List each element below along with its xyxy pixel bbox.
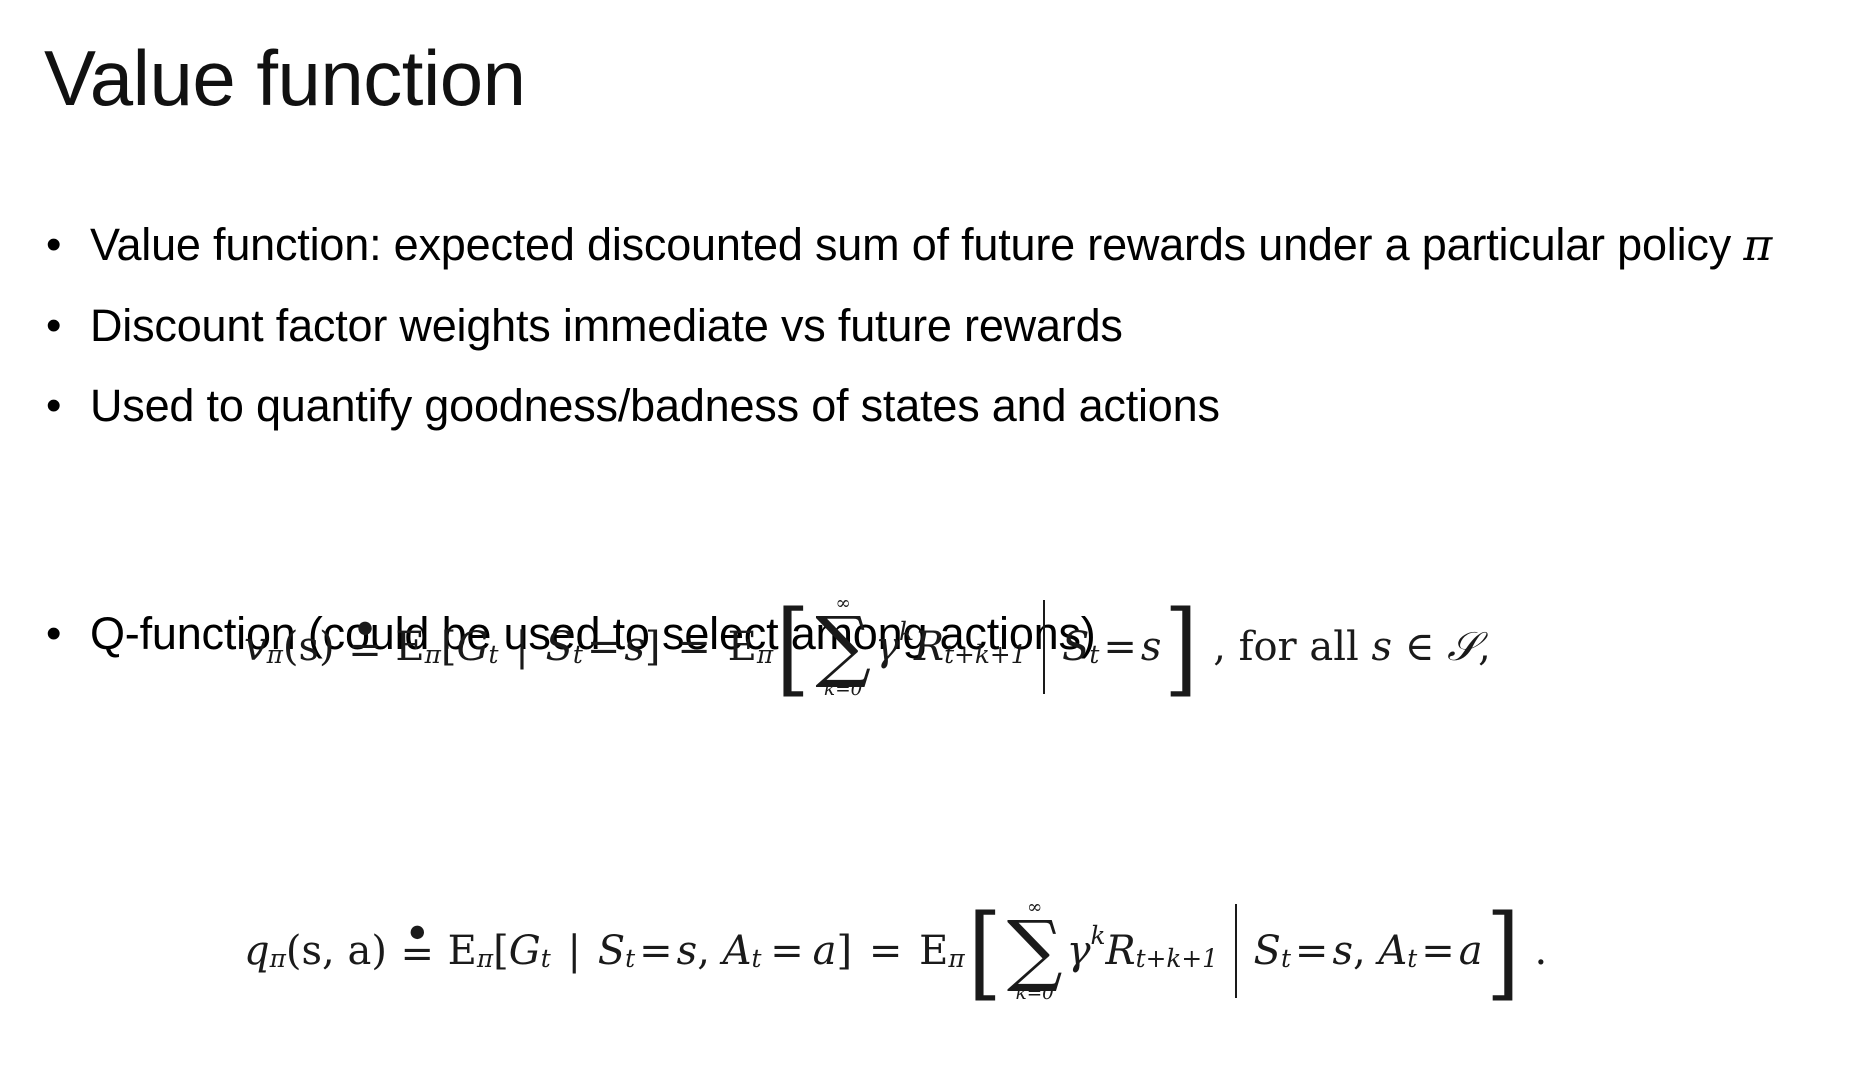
bullet-marker-icon: • <box>40 293 90 359</box>
eq1-open-bracket: [ <box>441 624 457 670</box>
eq2-expectation-first: Eπ[Gt|St=s, At=a] <box>448 928 852 974</box>
eq2-state-value-s: s <box>677 928 698 974</box>
eq1-state-S: S <box>546 624 573 670</box>
eq2-state-S: S <box>598 928 625 974</box>
eq1-trailing-comma: , <box>1213 624 1226 670</box>
list-item-value-function: • Value function: expected discounted su… <box>40 212 1830 279</box>
eq2-equals-3: = <box>1291 928 1333 974</box>
eq2-summation: ∞ ∑ k=0 <box>1007 900 1063 1002</box>
eq1-expectation-first: Eπ[Gt|St=s] <box>395 624 660 670</box>
eq1-tall-conditional-bar <box>1043 600 1045 694</box>
eq1-expectation-symbol: E <box>395 624 424 670</box>
eq1-sum-lower-limit: k=0 <box>824 682 862 699</box>
eq1-reward-R: R <box>914 624 944 670</box>
eq1-state-S-2: S <box>1062 624 1089 670</box>
eq2-return-G: G <box>509 928 541 974</box>
eq1-trailing-var-s: s <box>1372 624 1393 670</box>
eq1-sigma-glyph: ∑ <box>815 611 871 683</box>
list-item-text: Value function: expected discounted sum … <box>90 212 1830 279</box>
eq1-equals-3: = <box>1099 624 1141 670</box>
eq2-close-bracket: ] <box>836 928 852 974</box>
eq1-equals-2: = <box>661 624 728 670</box>
eq2-sum-lower-limit: k=0 <box>1016 986 1054 1003</box>
doteq-equals: = <box>401 936 435 973</box>
eq2-reward-R: R <box>1106 928 1136 974</box>
eq1-doteq-operator: ● = <box>335 624 396 669</box>
eq2-conditional-bar: | <box>551 928 598 974</box>
eq2-expectation-second: Eπ[ ∞ ∑ k=0 γkRt+k+1 St=s, At=a ] <box>919 900 1522 1002</box>
equation-1-spacer <box>40 453 1830 601</box>
eq2-tall-conditional-bar <box>1235 904 1237 998</box>
eq2-equals-1: = <box>635 928 677 974</box>
eq2-q-args: (s, a) <box>286 928 387 974</box>
eq1-final-comma: , <box>1478 624 1491 670</box>
eq2-doteq-operator: ● = <box>387 928 448 973</box>
eq1-close-bracket: ] <box>645 624 661 670</box>
eq2-action-value-a: a <box>813 928 837 974</box>
eq2-sigma-glyph: ∑ <box>1007 915 1063 987</box>
eq1-equals-1: = <box>583 624 625 670</box>
pi-symbol: π <box>1743 220 1772 271</box>
eq2-action-A-2: A <box>1378 928 1407 974</box>
eq1-v-args: (s) <box>283 624 335 670</box>
eq2-q-symbol: q <box>244 928 270 974</box>
eq2-lhs: qπ(s, a) <box>244 928 387 974</box>
page-title: Value function <box>44 38 526 120</box>
eq1-trailing-clause: , for all s ∈ 𝒮, <box>1201 624 1491 670</box>
equation-state-value-function: vπ(s) ● = Eπ[Gt|St=s] = Eπ[ ∞ ∑ k=0 γkRt… <box>244 596 1491 698</box>
eq1-trailing-forall: for all <box>1239 624 1359 670</box>
eq1-v-symbol: v <box>244 624 267 670</box>
eq1-conditional-bar: | <box>498 624 545 670</box>
eq2-state-value-s-2: s <box>1332 928 1353 974</box>
eq2-expectation-symbol: E <box>448 928 477 974</box>
bullet-3-text: Used to quantify goodness/badness of sta… <box>90 373 1830 439</box>
bullet-marker-icon: • <box>40 601 90 667</box>
eq1-expectation-symbol-2: E <box>728 624 757 670</box>
eq1-state-set-S: 𝒮 <box>1447 624 1478 670</box>
eq2-equals-2: = <box>852 928 919 974</box>
eq2-action-value-a-2: a <box>1459 928 1483 974</box>
list-item-discount-factor: • Discount factor weights immediate vs f… <box>40 293 1830 359</box>
bullet-1-text: Value function: expected discounted sum … <box>90 219 1743 270</box>
eq1-element-of-icon: ∈ <box>1405 624 1435 670</box>
bullet-marker-icon: • <box>40 212 90 278</box>
eq2-equals-a-2: = <box>1417 928 1459 974</box>
equation-action-value-function: qπ(s, a) ● = Eπ[Gt|St=s, At=a] = Eπ[ ∞ ∑… <box>244 900 1547 1002</box>
eq1-state-value-s: s <box>624 624 645 670</box>
slide-canvas: Value function • Value function: expecte… <box>0 0 1860 1080</box>
eq2-comma-2: , <box>1353 928 1366 974</box>
eq1-return-G: G <box>457 624 489 670</box>
eq2-comma-1: , <box>697 928 710 974</box>
eq2-expectation-symbol-2: E <box>919 928 948 974</box>
eq1-discount-gamma: γ <box>875 624 899 670</box>
eq1-state-value-s-2: s <box>1141 624 1162 670</box>
eq1-summation: ∞ ∑ k=0 <box>815 596 871 698</box>
eq2-open-bracket: [ <box>493 928 509 974</box>
eq2-discount-gamma: γ <box>1067 928 1091 974</box>
list-item-quantify: • Used to quantify goodness/badness of s… <box>40 373 1830 439</box>
doteq-equals: = <box>348 632 382 669</box>
bullet-2-text: Discount factor weights immediate vs fut… <box>90 293 1830 359</box>
bullet-marker-icon: • <box>40 373 90 439</box>
eq1-lhs: vπ(s) <box>244 624 335 670</box>
eq2-equals-a: = <box>761 928 812 974</box>
eq2-final-period: . <box>1522 928 1547 974</box>
eq2-state-S-2: S <box>1254 928 1281 974</box>
eq1-expectation-second: Eπ[ ∞ ∑ k=0 γkRt+k+1 St=s ] <box>728 596 1202 698</box>
eq2-action-A: A <box>723 928 752 974</box>
